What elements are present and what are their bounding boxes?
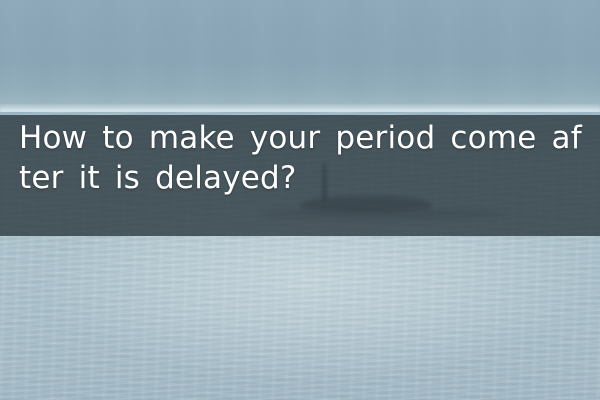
- screenshot-canvas: How to make your period come af ter it i…: [0, 0, 600, 400]
- sky-haze-bands: [0, 0, 600, 112]
- caption-headline: How to make your period come af ter it i…: [19, 118, 587, 198]
- caption-banner: How to make your period come af ter it i…: [0, 115, 600, 236]
